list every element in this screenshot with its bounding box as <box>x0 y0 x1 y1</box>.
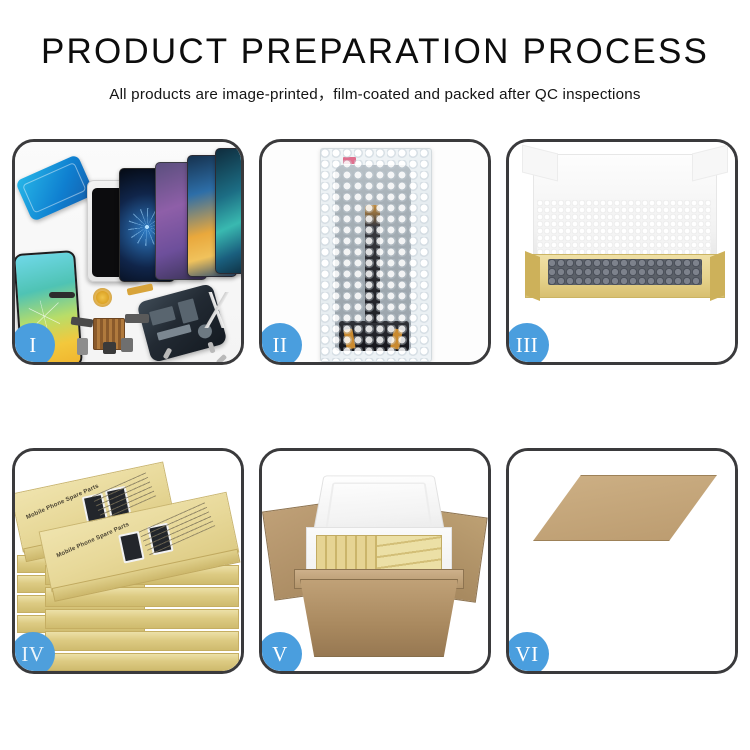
spare-part-vibrator <box>121 338 133 352</box>
kraft-box-tray <box>525 254 725 298</box>
step-badge-3: III <box>506 323 549 365</box>
step-badge-4: IV <box>12 632 55 674</box>
page-title: PRODUCT PREPARATION PROCESS <box>0 34 750 69</box>
boxed-unit <box>45 609 239 629</box>
bubble-packed-screens <box>548 259 702 285</box>
spare-part-coil <box>93 288 112 307</box>
spare-part-flex-cable-gold <box>127 283 154 295</box>
repair-tweezers <box>195 292 239 328</box>
bubble-texture-overlay <box>321 149 431 361</box>
process-step-grid: I II <box>12 139 738 674</box>
step-badge-6: VI <box>506 632 549 674</box>
page-subtitle: All products are image-printed，film-coat… <box>0 82 750 104</box>
tray-side-left <box>525 251 540 301</box>
process-step-panel-2[interactable]: II <box>259 139 491 365</box>
process-step-panel-5[interactable]: V <box>259 448 491 674</box>
step-badge-5: V <box>259 632 302 674</box>
process-step-panel-1[interactable]: I <box>12 139 244 365</box>
process-step-panel-4[interactable]: Mobile Phone Spare Parts Mobile Phone Sp… <box>12 448 244 674</box>
spare-part-flex-connector <box>125 314 149 323</box>
tray-side-right <box>710 251 725 301</box>
phone-screen-teal <box>215 148 241 274</box>
carton-body <box>300 579 458 657</box>
bubble-wrap-bag <box>320 148 432 362</box>
infographic-page: PRODUCT PREPARATION PROCESS All products… <box>0 0 750 750</box>
spare-part-button <box>103 342 116 354</box>
boxed-unit <box>45 631 239 651</box>
board-chip <box>149 306 176 326</box>
spare-part-sim-tray <box>77 338 88 355</box>
process-step-panel-3[interactable]: III <box>506 139 738 365</box>
carton-top-face <box>533 475 717 541</box>
step-badge-1: I <box>12 323 55 365</box>
phone-back-panel-blue <box>15 154 95 222</box>
boxed-unit <box>45 653 239 671</box>
board-connector <box>157 324 192 341</box>
process-step-panel-6[interactable]: VI <box>506 448 738 674</box>
foam-sheet <box>537 200 711 258</box>
header: PRODUCT PREPARATION PROCESS All products… <box>0 0 750 104</box>
step-badge-2: II <box>259 323 302 365</box>
spare-part-screw <box>216 354 227 362</box>
spare-part-speaker-mesh <box>49 292 75 298</box>
